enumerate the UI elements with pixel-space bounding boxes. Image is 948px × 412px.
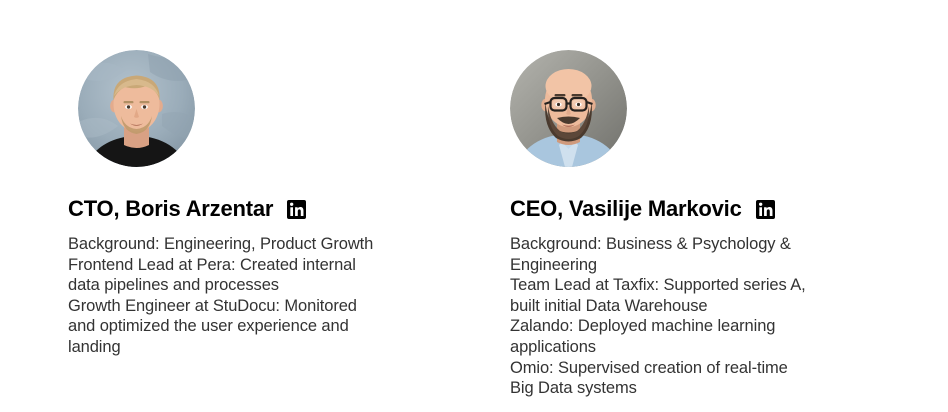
avatar-photo-vasilije-markovic	[510, 50, 627, 167]
bio-line: Engineering	[510, 255, 862, 276]
avatar-photo-boris-arzentar	[78, 50, 195, 167]
profile-card-boris-arzentar: CTO, Boris Arzentar Background: Engineer…	[68, 0, 468, 412]
profile-name-row-boris-arzentar: CTO, Boris Arzentar	[68, 196, 306, 222]
bio-line: applications	[510, 337, 862, 358]
bio-line: data pipelines and processes	[68, 275, 416, 296]
bio-line: landing	[68, 337, 416, 358]
bio-line: Growth Engineer at StuDocu: Monitored	[68, 296, 416, 317]
profile-title-name: CEO, Vasilije Markovic	[510, 196, 742, 222]
bio-line: built initial Data Warehouse	[510, 296, 862, 317]
bio-line: Big Data systems	[510, 378, 862, 399]
profile-card-vasilije-markovic: CEO, Vasilije Markovic Background: Busin…	[510, 0, 910, 412]
linkedin-icon[interactable]	[756, 200, 775, 219]
bio-line: Zalando: Deployed machine learning	[510, 316, 862, 337]
bio-line: Team Lead at Taxfix: Supported series A,	[510, 275, 862, 296]
profile-bio-vasilije-markovic: Background: Business & Psychology & Engi…	[510, 234, 862, 399]
profile-name-row-vasilije-markovic: CEO, Vasilije Markovic	[510, 196, 775, 222]
team-profiles-page: CTO, Boris Arzentar Background: Engineer…	[0, 0, 948, 412]
linkedin-icon[interactable]	[287, 200, 306, 219]
bio-line: Frontend Lead at Pera: Created internal	[68, 255, 416, 276]
bio-line: Background: Business & Psychology &	[510, 234, 862, 255]
bio-line: Omio: Supervised creation of real-time	[510, 358, 862, 379]
bio-line: and optimized the user experience and	[68, 316, 416, 337]
bio-line: Background: Engineering, Product Growth	[68, 234, 416, 255]
profile-bio-boris-arzentar: Background: Engineering, Product Growth …	[68, 234, 416, 358]
profile-title-name: CTO, Boris Arzentar	[68, 196, 273, 222]
